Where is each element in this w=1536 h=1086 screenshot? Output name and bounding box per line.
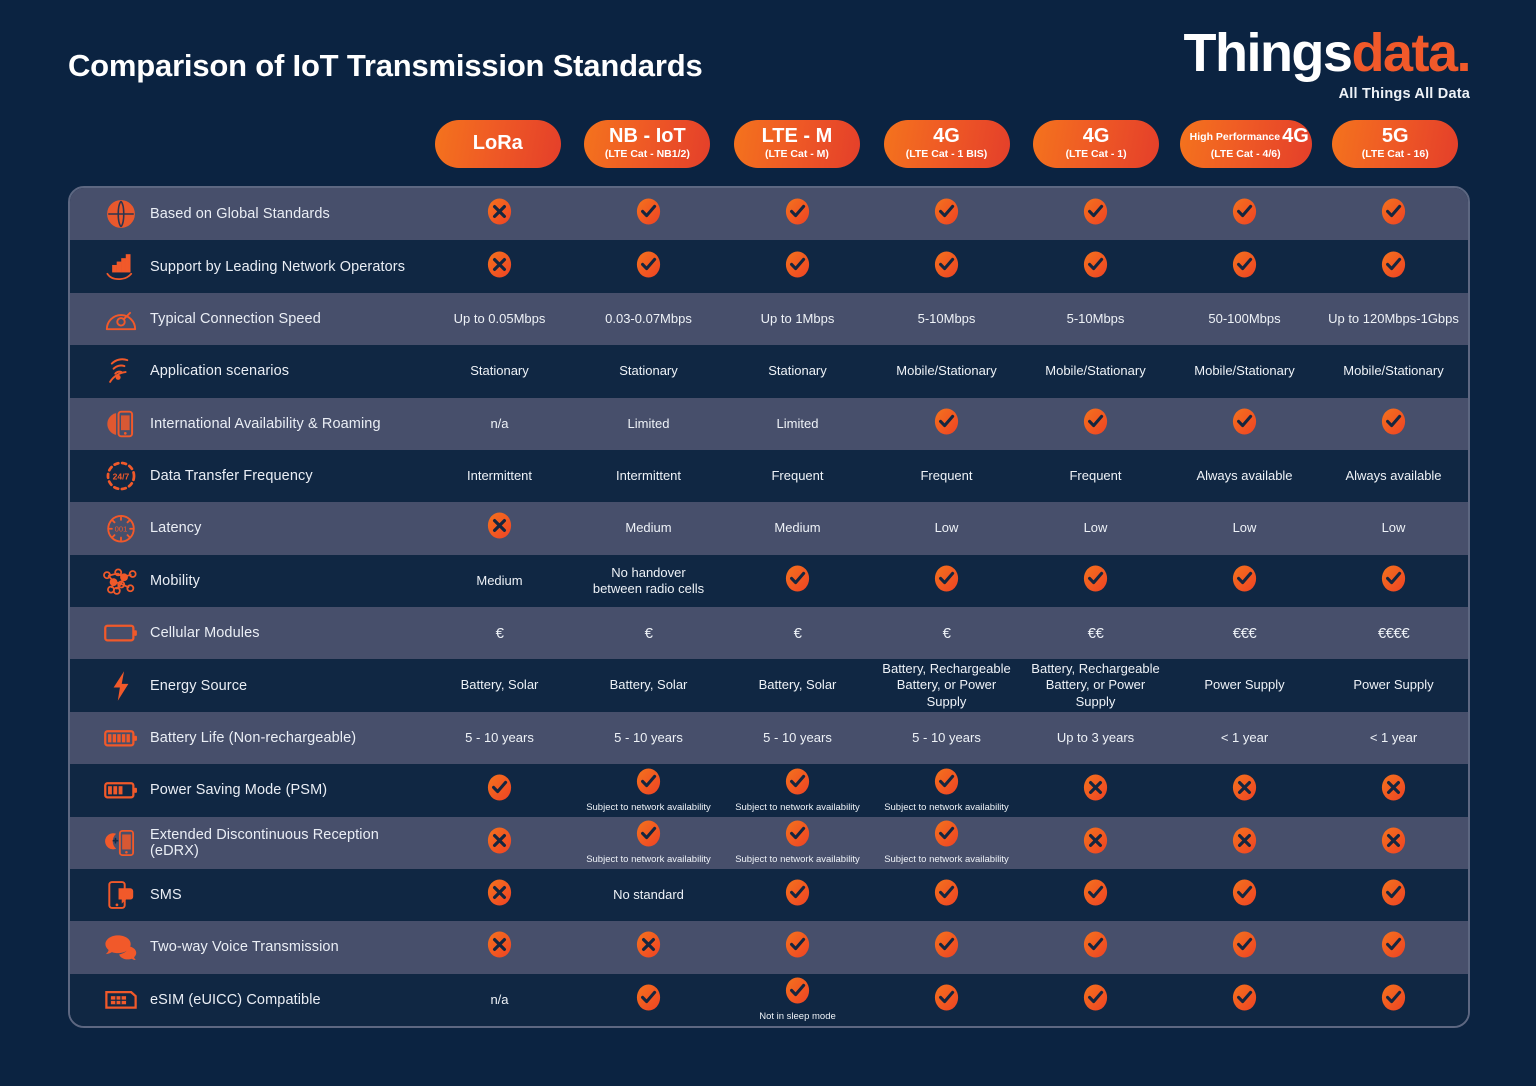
cell-value: Up to 1Mbps	[761, 311, 835, 327]
row-header: 001Latency	[70, 502, 425, 554]
cross-icon	[1082, 774, 1109, 806]
column-header-1: LoRa	[423, 120, 573, 178]
table-cell: €	[723, 607, 872, 659]
table-cell: Limited	[574, 398, 723, 450]
table-cell	[1319, 764, 1468, 816]
table-cell	[1021, 240, 1170, 292]
table-row: Two-way Voice Transmission	[70, 921, 1468, 973]
table-cell: 5 - 10 years	[872, 712, 1021, 764]
table-cell: Mobile/Stationary	[1319, 345, 1468, 397]
row-cells: MediumMediumLowLowLowLow	[425, 502, 1468, 554]
table-cell: Not in sleep mode	[723, 974, 872, 1026]
table-cell	[1319, 398, 1468, 450]
standard-pill[interactable]: NB - IoT(LTE Cat - NB1/2)	[584, 120, 710, 168]
table-cell: 5 - 10 years	[723, 712, 872, 764]
check-icon	[1380, 931, 1407, 963]
table-cell: Always available	[1170, 450, 1319, 502]
table-row: Based on Global Standards	[70, 188, 1468, 240]
row-cells: No standard	[425, 869, 1468, 921]
table-cell	[1021, 921, 1170, 973]
table-cell	[574, 188, 723, 240]
table-cell	[1170, 188, 1319, 240]
cell-note: Subject to network availability	[586, 802, 711, 813]
row-cells: Subject to network availability Subject …	[425, 817, 1468, 869]
row-cells	[425, 188, 1468, 240]
table-row: Energy SourceBattery, SolarBattery, Sola…	[70, 659, 1468, 711]
voice-bubbles-icon	[92, 934, 150, 960]
cell-value: Intermittent	[616, 468, 681, 484]
table-cell	[1319, 869, 1468, 921]
table-cell	[723, 869, 872, 921]
table-cell: Battery, Solar	[723, 659, 872, 711]
check-icon	[1231, 984, 1258, 1016]
row-header: Typical Connection Speed	[70, 293, 425, 345]
cell-value: Up to 3 years	[1057, 730, 1134, 746]
table-cell	[1170, 240, 1319, 292]
table-cell: Battery, RechargeableBattery, or Power S…	[1021, 659, 1170, 711]
column-header-4: 4G(LTE Cat - 1 BIS)	[872, 120, 1022, 178]
brand-logo: Thingsdata. All Things All Data	[1183, 26, 1470, 102]
cell-value: 50-100Mbps	[1208, 311, 1280, 327]
table-cell: Up to 120Mbps-1Gbps	[1319, 293, 1468, 345]
row-cells: n/aLimitedLimited	[425, 398, 1468, 450]
check-icon	[933, 408, 960, 440]
logo-wordmark: Thingsdata.	[1183, 26, 1470, 80]
table-cell	[1021, 869, 1170, 921]
table-cell: 0.03-0.07Mbps	[574, 293, 723, 345]
table-cell	[1319, 974, 1468, 1026]
table-row: MobilityMediumNo handoverbetween radio c…	[70, 555, 1468, 607]
row-label: Based on Global Standards	[150, 206, 330, 222]
cross-icon	[486, 827, 513, 859]
check-icon	[1082, 879, 1109, 911]
logo-tagline: All Things All Data	[1183, 86, 1470, 102]
table-cell	[872, 240, 1021, 292]
standard-prefix: High Performance	[1190, 131, 1280, 143]
check-icon	[933, 768, 960, 800]
cell-value: Battery, Solar	[461, 677, 539, 693]
check-icon	[784, 198, 811, 230]
cost-value: €	[794, 625, 802, 642]
row-cells: 5 - 10 years5 - 10 years5 - 10 years5 - …	[425, 712, 1468, 764]
table-cell	[872, 555, 1021, 607]
table-cell: Subject to network availability	[574, 817, 723, 869]
table-cell: Mobile/Stationary	[872, 345, 1021, 397]
cell-note: Subject to network availability	[735, 802, 860, 813]
check-icon	[1082, 565, 1109, 597]
column-header-2: NB - IoT(LTE Cat - NB1/2)	[573, 120, 723, 178]
table-cell	[1021, 188, 1170, 240]
cell-value: Low	[935, 520, 959, 536]
row-label: Latency	[150, 520, 202, 536]
check-icon	[1380, 408, 1407, 440]
table-cell	[1319, 240, 1468, 292]
standard-name: High Performance4G	[1190, 126, 1302, 147]
cell-value: Always available	[1345, 468, 1441, 484]
cell-value: Power Supply	[1353, 677, 1433, 693]
table-cell: Subject to network availability	[723, 817, 872, 869]
row-cells: Up to 0.05Mbps0.03-0.07MbpsUp to 1Mbps5-…	[425, 293, 1468, 345]
check-icon	[784, 565, 811, 597]
table-cell	[1021, 817, 1170, 869]
table-cell: Stationary	[723, 345, 872, 397]
row-cells: n/a Not in sleep mode	[425, 974, 1468, 1026]
row-label: Typical Connection Speed	[150, 311, 321, 327]
cell-value: 0.03-0.07Mbps	[605, 311, 692, 327]
table-cell: 5 - 10 years	[425, 712, 574, 764]
cell-value: Medium	[625, 520, 671, 536]
table-cell: Up to 0.05Mbps	[425, 293, 574, 345]
cell-value: Limited	[777, 416, 819, 432]
check-icon	[1231, 931, 1258, 963]
table-cell: Low	[872, 502, 1021, 554]
check-icon	[933, 984, 960, 1016]
cell-note: Subject to network availability	[735, 854, 860, 865]
cell-value: Low	[1233, 520, 1257, 536]
cell-value: Stationary	[768, 363, 827, 379]
cross-icon	[1380, 827, 1407, 859]
cross-icon	[486, 512, 513, 544]
cell-value: Medium	[774, 520, 820, 536]
standard-name: 4G	[894, 126, 1000, 147]
cost-value: €€€€	[1378, 625, 1409, 642]
cell-value: n/a	[490, 992, 508, 1008]
table-cell	[1170, 555, 1319, 607]
cell-value: Stationary	[619, 363, 678, 379]
table-cell: €	[872, 607, 1021, 659]
table-cell: Intermittent	[574, 450, 723, 502]
table-cell	[425, 869, 574, 921]
cell-value: No handoverbetween radio cells	[593, 565, 704, 598]
check-icon	[1380, 565, 1407, 597]
phone-roaming-icon	[92, 408, 150, 440]
row-label: eSIM (eUICC) Compatible	[150, 992, 321, 1008]
cell-value: Intermittent	[467, 468, 532, 484]
table-cell	[1170, 764, 1319, 816]
check-icon	[784, 768, 811, 800]
cell-value: Frequent	[1069, 468, 1121, 484]
infographic-page: Comparison of IoT Transmission Standards…	[0, 0, 1536, 1086]
cell-value: Always available	[1196, 468, 1292, 484]
table-cell: Subject to network availability	[574, 764, 723, 816]
row-label: International Availability & Roaming	[150, 416, 381, 432]
table-cell	[1319, 188, 1468, 240]
table-cell	[1021, 974, 1170, 1026]
row-cells: €€€€€€€€€€€€€	[425, 607, 1468, 659]
cell-value: No standard	[613, 887, 684, 903]
speedometer-icon	[92, 305, 150, 333]
table-cell	[723, 921, 872, 973]
table-cell: < 1 year	[1170, 712, 1319, 764]
cell-value: 5 - 10 years	[912, 730, 981, 746]
check-icon	[1082, 408, 1109, 440]
check-icon	[1231, 879, 1258, 911]
cell-value: Power Supply	[1204, 677, 1284, 693]
standard-category: (LTE Cat - NB1/2)	[594, 148, 700, 161]
stopwatch-icon: 001	[92, 512, 150, 544]
table-cell: €€€€	[1319, 607, 1468, 659]
cell-value: Battery, RechargeableBattery, or Power S…	[1025, 661, 1166, 710]
check-icon	[635, 768, 662, 800]
globe-icon	[92, 197, 150, 231]
cell-value: Mobile/Stationary	[1194, 363, 1294, 379]
cell-value: Battery, Solar	[610, 677, 688, 693]
cross-icon	[1231, 827, 1258, 859]
cell-value: n/a	[490, 416, 508, 432]
comparison-table: Based on Global Standards	[68, 186, 1470, 1028]
standard-category: (LTE Cat - M)	[744, 148, 850, 161]
table-cell	[574, 240, 723, 292]
table-cell	[425, 188, 574, 240]
table-cell: €	[574, 607, 723, 659]
check-icon	[635, 984, 662, 1016]
table-cell: 50-100Mbps	[1170, 293, 1319, 345]
table-cell: Power Supply	[1170, 659, 1319, 711]
clock-247-icon: 24/7	[92, 460, 150, 492]
network-nodes-icon	[92, 567, 150, 595]
cross-icon	[1380, 774, 1407, 806]
table-cell: Battery, RechargeableBattery, or Power S…	[872, 659, 1021, 711]
table-cell: 5-10Mbps	[872, 293, 1021, 345]
standard-pill[interactable]: High Performance4G(LTE Cat - 4/6)	[1180, 120, 1312, 168]
cross-icon	[635, 931, 662, 963]
table-row: 001Latency MediumMediumLowLowLowLow	[70, 502, 1468, 554]
table-cell: n/a	[425, 398, 574, 450]
row-cells: IntermittentIntermittentFrequentFrequent…	[425, 450, 1468, 502]
check-icon	[1380, 879, 1407, 911]
cell-value: Limited	[628, 416, 670, 432]
table-row: International Availability & Roamingn/aL…	[70, 398, 1468, 450]
check-icon	[933, 198, 960, 230]
table-cell: Stationary	[425, 345, 574, 397]
table-cell: < 1 year	[1319, 712, 1468, 764]
svg-text:24/7: 24/7	[113, 471, 130, 481]
row-label: Power Saving Mode (PSM)	[150, 782, 327, 798]
check-icon	[1380, 198, 1407, 230]
row-header: SMS	[70, 869, 425, 921]
cost-value: €€	[1088, 625, 1104, 642]
row-cells: Battery, SolarBattery, SolarBattery, Sol…	[425, 659, 1468, 711]
row-header: Battery Life (Non-rechargeable)	[70, 712, 425, 764]
table-cell	[723, 188, 872, 240]
row-label: Cellular Modules	[150, 625, 260, 641]
cell-value: 5 - 10 years	[614, 730, 683, 746]
header-spacer	[68, 120, 423, 178]
table-cell	[872, 921, 1021, 973]
table-row: Support by Leading Network Operators	[70, 240, 1468, 292]
table-cell	[723, 240, 872, 292]
table-cell	[1170, 869, 1319, 921]
row-label: Support by Leading Network Operators	[150, 259, 405, 275]
standard-category: (LTE Cat - 1 BIS)	[894, 148, 1000, 161]
row-label: Extended Discontinuous Reception (eDRX)	[150, 827, 425, 859]
table-cell	[574, 921, 723, 973]
standard-name: LoRa	[445, 133, 551, 154]
table-cell: Up to 3 years	[1021, 712, 1170, 764]
check-icon	[933, 251, 960, 283]
table-cell: No handoverbetween radio cells	[574, 555, 723, 607]
check-icon	[1380, 984, 1407, 1016]
standard-pill[interactable]: 4G(LTE Cat - 1 BIS)	[884, 120, 1010, 168]
table-row: Battery Life (Non-rechargeable)5 - 10 ye…	[70, 712, 1468, 764]
table-row: Extended Discontinuous Reception (eDRX) …	[70, 817, 1468, 869]
table-cell	[723, 555, 872, 607]
standard-pill[interactable]: 5G(LTE Cat - 16)	[1332, 120, 1458, 168]
table-cell	[425, 240, 574, 292]
cell-value: Mobile/Stationary	[1343, 363, 1443, 379]
table-cell	[1170, 921, 1319, 973]
cell-value: 5 - 10 years	[763, 730, 832, 746]
row-header: Energy Source	[70, 659, 425, 711]
sms-icon	[92, 879, 150, 911]
cell-value: Battery, Solar	[759, 677, 837, 693]
column-header-pills: LoRaNB - IoT(LTE Cat - NB1/2)LTE - M(LTE…	[423, 120, 1470, 178]
standard-name: 4G	[1043, 126, 1149, 147]
row-label: SMS	[150, 887, 182, 903]
check-icon	[784, 820, 811, 852]
row-header: Extended Discontinuous Reception (eDRX)	[70, 817, 425, 869]
table-cell	[425, 817, 574, 869]
check-icon	[784, 931, 811, 963]
check-icon	[635, 820, 662, 852]
cell-value: Low	[1084, 520, 1108, 536]
check-icon	[1082, 931, 1109, 963]
standard-pill[interactable]: LoRa	[435, 120, 561, 168]
table-row: eSIM (eUICC) Compatiblen/a Not in sleep …	[70, 974, 1468, 1026]
cell-note: Subject to network availability	[884, 802, 1009, 813]
row-header: Support by Leading Network Operators	[70, 240, 425, 292]
table-cell	[872, 188, 1021, 240]
cell-value: Up to 0.05Mbps	[454, 311, 546, 327]
row-header: 24/7Data Transfer Frequency	[70, 450, 425, 502]
logo-things-text: Things	[1183, 23, 1351, 83]
cross-icon	[486, 931, 513, 963]
row-cells: MediumNo handoverbetween radio cells	[425, 555, 1468, 607]
check-icon	[933, 931, 960, 963]
table-cell: 5 - 10 years	[574, 712, 723, 764]
table-cell: Frequent	[872, 450, 1021, 502]
row-label: Energy Source	[150, 678, 247, 694]
module-icon	[92, 622, 150, 644]
battery-full-icon	[92, 727, 150, 749]
battery-half-icon	[92, 779, 150, 801]
cell-value: < 1 year	[1221, 730, 1268, 746]
table-cell: Up to 1Mbps	[723, 293, 872, 345]
table-cell: 5-10Mbps	[1021, 293, 1170, 345]
standard-pill[interactable]: 4G(LTE Cat - 1)	[1033, 120, 1159, 168]
cost-value: €	[496, 625, 504, 642]
table-cell	[574, 974, 723, 1026]
row-header: International Availability & Roaming	[70, 398, 425, 450]
svg-text:001: 001	[115, 525, 128, 534]
row-header: Mobility	[70, 555, 425, 607]
table-cell: Medium	[723, 502, 872, 554]
row-label: Data Transfer Frequency	[150, 468, 313, 484]
logo-data-text: data.	[1351, 23, 1470, 83]
wifi-signal-icon	[92, 356, 150, 386]
table-cell: €€	[1021, 607, 1170, 659]
cell-value: 5-10Mbps	[918, 311, 976, 327]
table-cell: Frequent	[1021, 450, 1170, 502]
table-cell	[1170, 398, 1319, 450]
table-cell: Battery, Solar	[574, 659, 723, 711]
cross-icon	[1082, 827, 1109, 859]
row-label: Mobility	[150, 573, 200, 589]
column-header-3: LTE - M(LTE Cat - M)	[722, 120, 872, 178]
cell-value: < 1 year	[1370, 730, 1417, 746]
row-header: eSIM (eUICC) Compatible	[70, 974, 425, 1026]
cell-value: Low	[1382, 520, 1406, 536]
row-header: Application scenarios	[70, 345, 425, 397]
standard-category: (LTE Cat - 4/6)	[1190, 148, 1302, 161]
table-cell	[1319, 555, 1468, 607]
cross-icon	[486, 251, 513, 283]
table-cell	[1021, 398, 1170, 450]
table-cell: Subject to network availability	[872, 817, 1021, 869]
table-cell: Medium	[574, 502, 723, 554]
standard-category: (LTE Cat - 1)	[1043, 148, 1149, 161]
cell-value: Frequent	[771, 468, 823, 484]
page-title: Comparison of IoT Transmission Standards	[68, 48, 703, 84]
table-cell	[1170, 974, 1319, 1026]
check-icon	[635, 198, 662, 230]
table-row: Application scenariosStationaryStationar…	[70, 345, 1468, 397]
check-icon	[1231, 251, 1258, 283]
cost-value: €€€	[1233, 625, 1257, 642]
cell-value: 5-10Mbps	[1067, 311, 1125, 327]
column-header-5: 4G(LTE Cat - 1)	[1021, 120, 1171, 178]
row-header: Power Saving Mode (PSM)	[70, 764, 425, 816]
check-icon	[933, 879, 960, 911]
table-cell: Subject to network availability	[723, 764, 872, 816]
check-icon	[1380, 251, 1407, 283]
column-header-6: High Performance4G(LTE Cat - 4/6)	[1171, 120, 1321, 178]
check-icon	[933, 820, 960, 852]
check-icon	[933, 565, 960, 597]
bolt-icon	[92, 670, 150, 702]
table-cell	[1021, 555, 1170, 607]
check-icon	[784, 977, 811, 1009]
phone-sleep-icon	[92, 828, 150, 858]
check-icon	[486, 774, 513, 806]
standard-name: LTE - M	[744, 126, 850, 147]
column-header-row: LoRaNB - IoT(LTE Cat - NB1/2)LTE - M(LTE…	[68, 120, 1470, 178]
cell-value: Frequent	[920, 468, 972, 484]
table-cell	[872, 398, 1021, 450]
table-row: 24/7Data Transfer FrequencyIntermittentI…	[70, 450, 1468, 502]
check-icon	[1082, 198, 1109, 230]
sim-card-icon	[92, 988, 150, 1012]
signal-hand-icon	[92, 252, 150, 282]
cross-icon	[1231, 774, 1258, 806]
row-label: Application scenarios	[150, 363, 289, 379]
check-icon	[1231, 198, 1258, 230]
table-cell	[425, 921, 574, 973]
table-cell: Frequent	[723, 450, 872, 502]
standard-pill[interactable]: LTE - M(LTE Cat - M)	[734, 120, 860, 168]
table-cell: Always available	[1319, 450, 1468, 502]
table-cell: Power Supply	[1319, 659, 1468, 711]
table-row: Power Saving Mode (PSM) Subject to netwo…	[70, 764, 1468, 816]
cell-note: Subject to network availability	[884, 854, 1009, 865]
column-header-7: 5G(LTE Cat - 16)	[1320, 120, 1470, 178]
table-cell	[872, 974, 1021, 1026]
cell-value: Medium	[476, 573, 522, 589]
row-label: Two-way Voice Transmission	[150, 939, 339, 955]
check-icon	[784, 251, 811, 283]
row-cells: Subject to network availability Subject …	[425, 764, 1468, 816]
row-cells	[425, 240, 1468, 292]
